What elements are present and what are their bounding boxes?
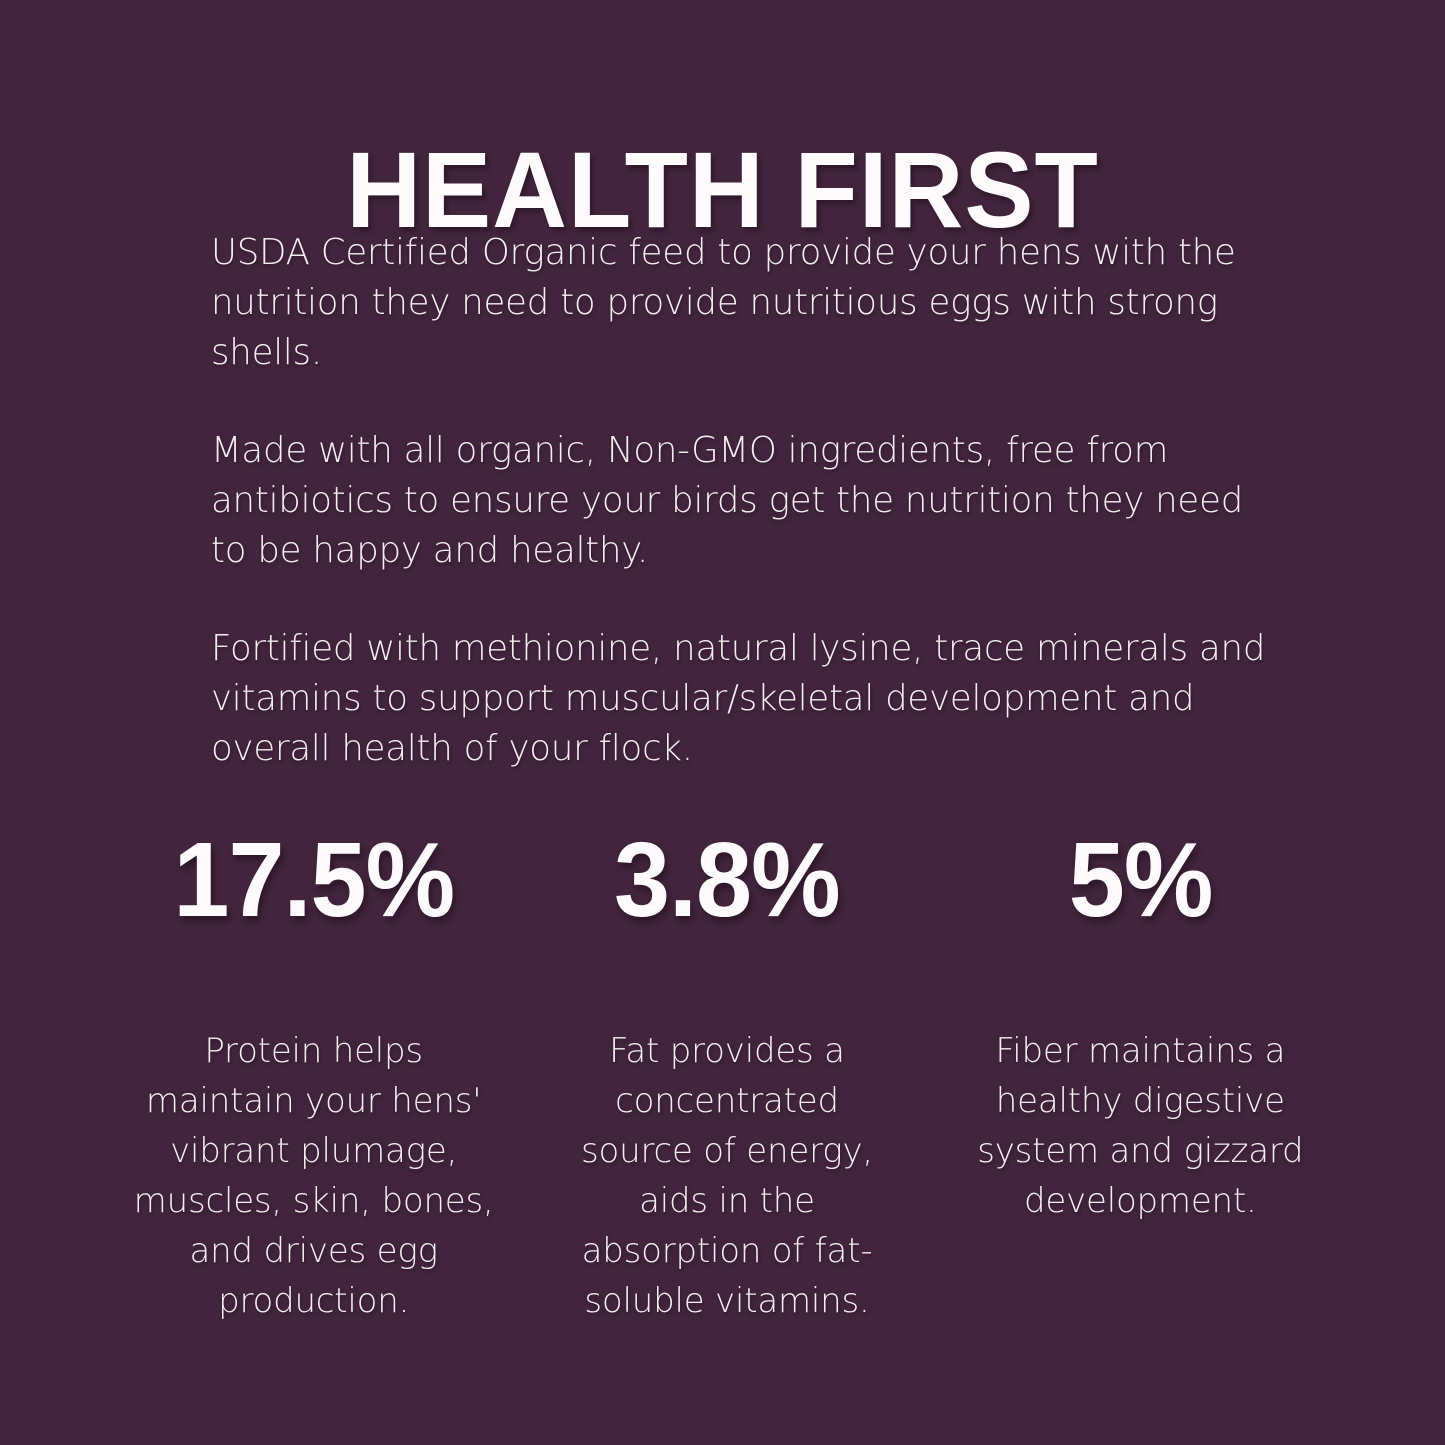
stat-description-fiber: Fiber maintains a healthy digestive syst… (950, 1026, 1330, 1226)
stat-description-column-protein: Protein helps maintain your hens' vibran… (107, 1026, 520, 1326)
stat-value-protein: 17.5% (173, 824, 454, 936)
stat-value-fat: 3.8% (614, 824, 840, 936)
stat-column-fat: 3.8% (520, 824, 933, 936)
intro-paragraph-2: Made with all organic, Non-GMO ingredien… (211, 426, 1266, 576)
stat-description-column-fiber: Fiber maintains a healthy digestive syst… (934, 1026, 1347, 1226)
stat-description-column-fat: Fat provides a concentrated source of en… (520, 1026, 933, 1326)
product-info-panel: HEALTH FIRST USDA Certified Organic feed… (0, 0, 1445, 1445)
stat-description-fat: Fat provides a concentrated source of en… (572, 1026, 882, 1326)
intro-paragraphs: USDA Certified Organic feed to provide y… (211, 228, 1266, 774)
stat-column-protein: 17.5% (107, 824, 520, 936)
stat-description-protein: Protein helps maintain your hens' vibran… (134, 1026, 494, 1326)
intro-paragraph-3: Fortified with methionine, natural lysin… (211, 624, 1266, 774)
stat-value-fiber: 5% (1068, 824, 1212, 936)
nutrition-stats-values-row: 17.5% 3.8% 5% (107, 824, 1347, 936)
stat-column-fiber: 5% (934, 824, 1347, 936)
nutrition-stats-descriptions-row: Protein helps maintain your hens' vibran… (107, 1026, 1347, 1326)
intro-paragraph-1: USDA Certified Organic feed to provide y… (211, 228, 1266, 378)
